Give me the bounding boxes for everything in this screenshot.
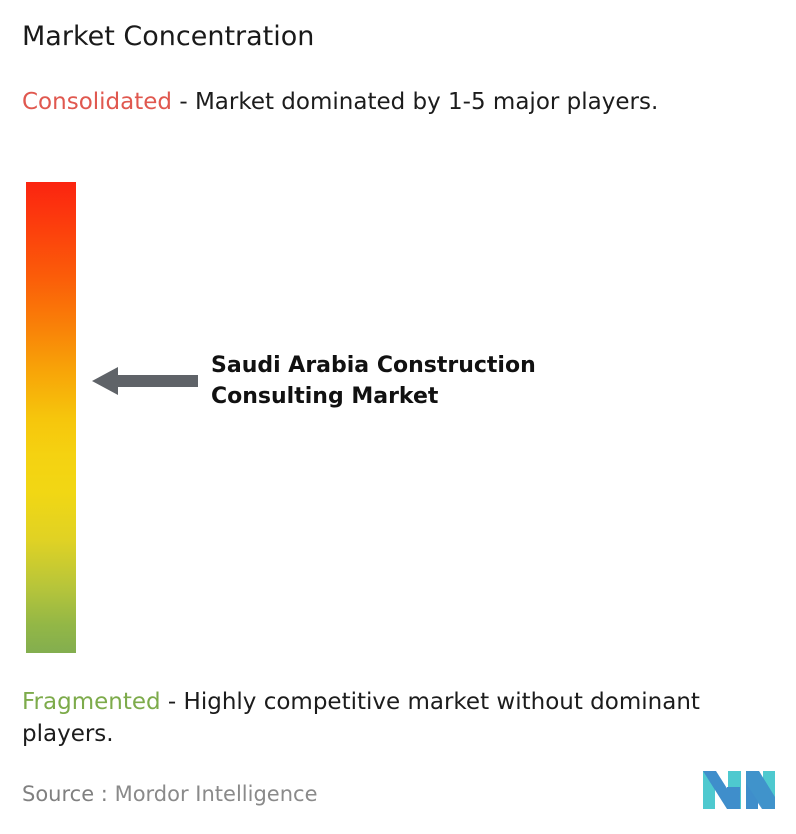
legend-term-consolidated: Consolidated bbox=[22, 89, 172, 115]
legend-fragmented: Fragmented - Highly competitive market w… bbox=[22, 686, 782, 750]
market-concentration-gradient-scale bbox=[26, 182, 76, 653]
chart-canvas: Market Concentration Consolidated - Mark… bbox=[0, 0, 796, 834]
legend-separator-fragmented: - bbox=[161, 689, 184, 715]
source-value: Mordor Intelligence bbox=[115, 782, 318, 806]
source-attribution: Source : Mordor Intelligence bbox=[22, 780, 317, 808]
legend-description-consolidated: Market dominated by 1-5 major players. bbox=[195, 89, 658, 115]
page-title: Market Concentration bbox=[22, 20, 314, 54]
callout-label-line-2: Consulting Market bbox=[211, 381, 731, 412]
legend-term-fragmented: Fragmented bbox=[22, 689, 161, 715]
mordor-intelligence-logo-icon bbox=[703, 767, 775, 813]
legend-consolidated: Consolidated - Market dominated by 1-5 m… bbox=[22, 86, 770, 118]
source-label: Source : bbox=[22, 782, 108, 806]
callout-label-line-1: Saudi Arabia Construction bbox=[211, 350, 731, 381]
callout-arrow-icon bbox=[92, 366, 198, 396]
legend-separator-consolidated: - bbox=[172, 89, 195, 115]
callout-label: Saudi Arabia Construction Consulting Mar… bbox=[211, 350, 731, 412]
